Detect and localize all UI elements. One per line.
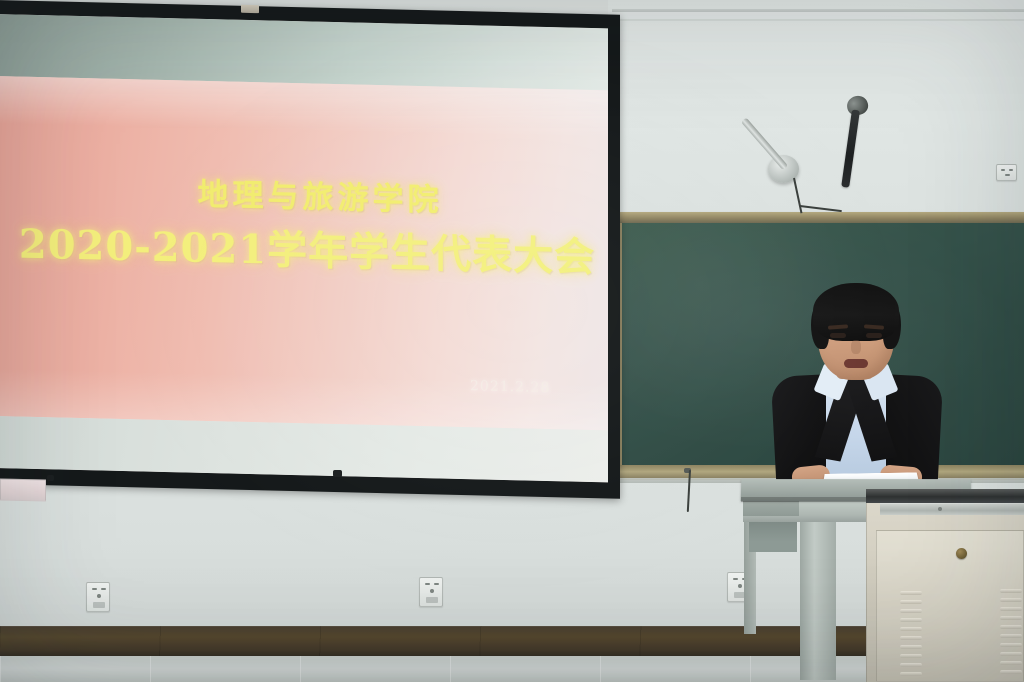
screen-mount-center	[333, 470, 342, 477]
hair	[813, 283, 899, 341]
cabinet-vent-left	[900, 591, 922, 676]
screen-wall-bracket	[0, 479, 46, 502]
projection-screen[interactable]: 地理与旅游学院 2020-2021学年学生代表大会 2021.2.28	[0, 14, 608, 482]
speaker	[756, 283, 956, 498]
wall-outlet-left[interactable]	[86, 582, 110, 612]
podium-leg-center	[800, 520, 836, 680]
wall-outlet-center[interactable]	[419, 577, 443, 607]
nose	[851, 340, 861, 354]
rail-screw	[938, 507, 942, 511]
upper-wall-section	[608, 0, 1024, 222]
ceiling-trim-line	[612, 9, 1024, 12]
ceiling-trim-line-secondary	[612, 19, 1024, 21]
cabinet-vent-right	[1000, 589, 1022, 674]
slide-date: 2021.2.28	[470, 378, 550, 396]
wall-outlet-upper-right[interactable]	[996, 164, 1017, 181]
classroom-photo: 地理与旅游学院 2020-2021学年学生代表大会 2021.2.28	[0, 0, 1024, 682]
screen-mount-left	[47, 475, 54, 481]
cabinet-lock-icon[interactable]	[956, 548, 967, 559]
cabinet-top-rail	[866, 489, 1024, 503]
eye-right	[866, 333, 882, 338]
mouth	[844, 359, 868, 368]
cabinet-secondary-rail	[880, 503, 1024, 515]
projection-screen-frame: 地理与旅游学院 2020-2021学年学生代表大会 2021.2.28	[0, 0, 620, 499]
chalkboard-frame-top	[620, 212, 1024, 223]
eye-left	[830, 333, 846, 338]
screen-mount-clip-top	[241, 5, 259, 13]
